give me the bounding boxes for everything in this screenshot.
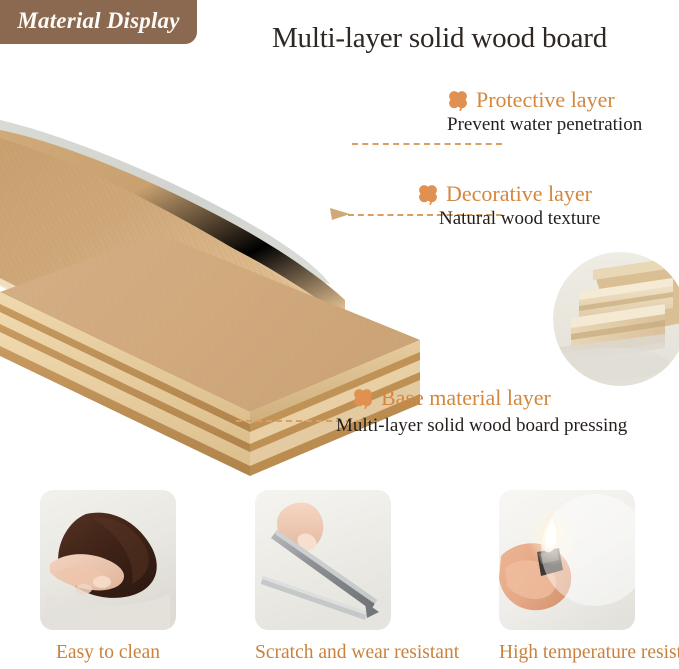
callout-decorative-title: Decorative layer xyxy=(446,182,592,205)
callout-base-material-layer: Base material layer Multi-layer solid wo… xyxy=(352,386,627,437)
plywood-stack-photo xyxy=(553,252,679,386)
callout-protective-layer: Protective layer Prevent water penetrati… xyxy=(447,88,642,136)
callout-decorative-subtitle: Natural wood texture xyxy=(439,208,600,230)
feature-cards-row: Easy to clean xyxy=(0,490,679,669)
callout-decorative-layer: Decorative layer Natural wood texture xyxy=(417,182,600,230)
feature-caption-high-temperature: High temperature resistance xyxy=(499,642,635,664)
callout-protective-title: Protective layer xyxy=(476,88,615,111)
connector-dash-protective xyxy=(352,143,502,145)
feature-card-scratch-resistant: Scratch and wear resistant xyxy=(255,490,391,664)
material-display-badge: Material Display xyxy=(0,0,197,44)
hand-wiping-cloth-photo xyxy=(40,490,176,630)
feature-card-easy-to-clean: Easy to clean xyxy=(40,490,176,664)
callout-base-title: Base material layer xyxy=(381,386,551,409)
feature-card-high-temperature: High temperature resistance xyxy=(499,490,635,664)
clover-icon xyxy=(447,89,469,111)
badge-label: Material Display xyxy=(17,8,179,36)
callout-protective-subtitle: Prevent water penetration xyxy=(447,114,642,136)
blade-scratch-test-photo xyxy=(255,490,391,630)
lighter-flame-test-photo xyxy=(499,490,635,630)
material-display-infographic: Material Display Multi-layer solid wood … xyxy=(0,0,679,669)
callout-protective-header: Protective layer xyxy=(447,88,642,111)
feature-caption-easy-to-clean: Easy to clean xyxy=(40,642,176,664)
feature-caption-scratch-resistant: Scratch and wear resistant xyxy=(255,642,391,664)
callout-decorative-header: Decorative layer xyxy=(417,182,600,205)
clover-icon xyxy=(417,183,439,205)
clover-icon xyxy=(352,387,374,409)
callout-base-header: Base material layer xyxy=(352,386,627,409)
callout-base-subtitle: Multi-layer solid wood board pressing xyxy=(336,415,627,437)
page-title: Multi-layer solid wood board xyxy=(212,22,667,55)
